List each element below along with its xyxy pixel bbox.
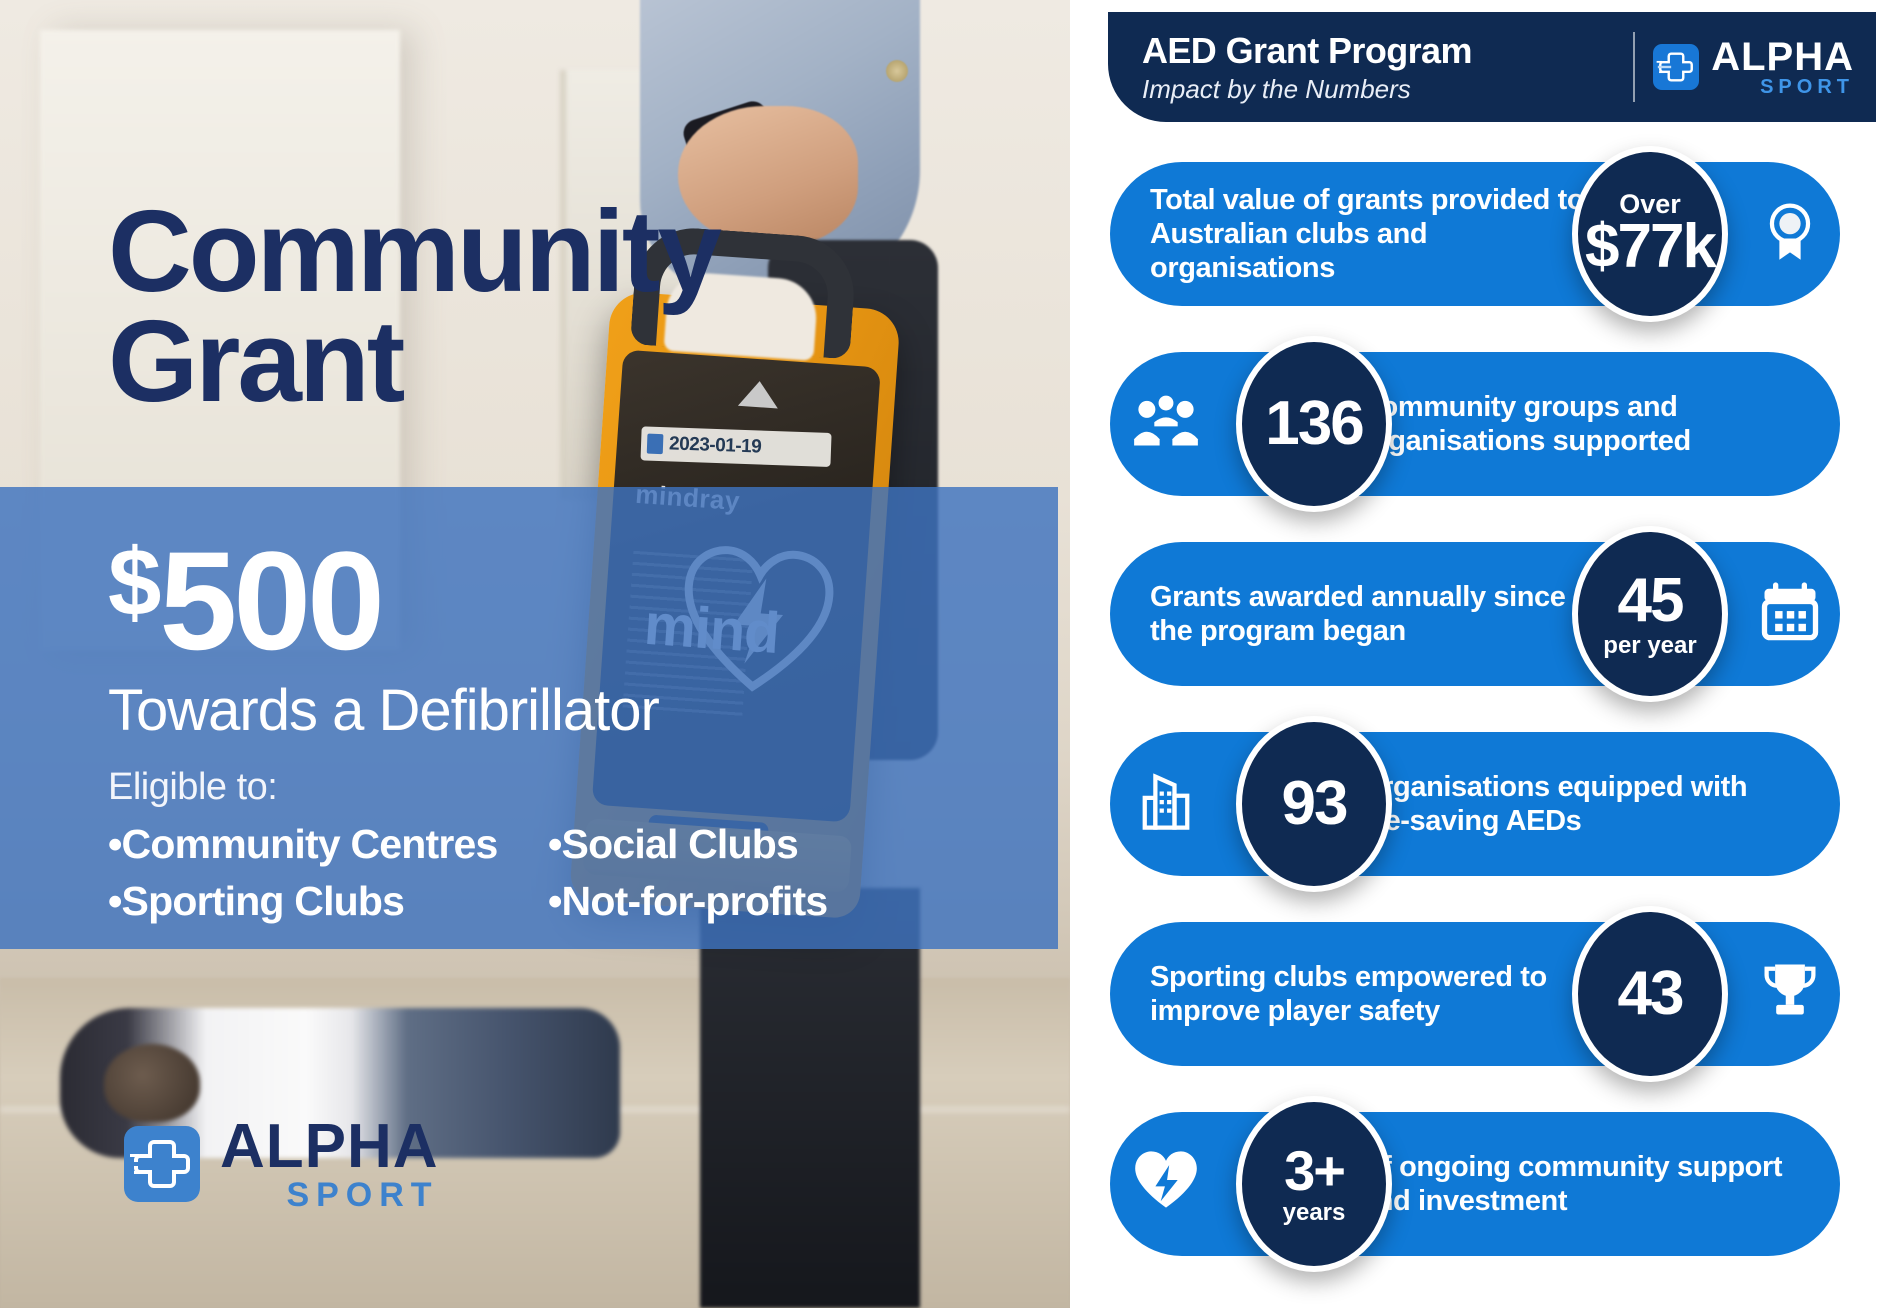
stat-value: 93: [1282, 773, 1347, 835]
stat-value-badge: Over $77k: [1572, 146, 1728, 322]
stat-suffix: years: [1283, 1201, 1346, 1225]
heart-bolt-icon: [1132, 1146, 1200, 1214]
logo-alpha-text: ALPHA: [220, 1116, 439, 1178]
alpha-cross-bolt-icon: [124, 1126, 200, 1202]
award-medal-icon: [1756, 196, 1824, 264]
trophy-icon: [1756, 956, 1824, 1024]
left-promo-panel: 2023-01-19 mindray mind Community Grant: [0, 0, 1070, 1308]
list-item: •Not-for-profits: [548, 878, 1058, 925]
stats-header-title: AED Grant Program: [1142, 30, 1615, 72]
eligible-label: Eligible to:: [108, 766, 1058, 809]
stat-description: Of ongoing community support and investm…: [1360, 1150, 1800, 1218]
offer-band: $500 Towards a Defibrillator Eligible to…: [0, 487, 1058, 949]
building-icon: [1132, 766, 1200, 834]
stat-row-grants-per-year: Grants awarded annually since the progra…: [1086, 526, 1866, 700]
stats-panel: AED Grant Program Impact by the Numbers: [1070, 0, 1880, 1308]
stat-pill: Sporting clubs empowered to improve play…: [1110, 922, 1840, 1066]
device-date-label: 2023-01-19: [641, 426, 832, 467]
stat-description: Community groups and organisations suppo…: [1360, 390, 1800, 458]
header-divider: [1633, 32, 1635, 102]
stat-value-badge: 136: [1236, 336, 1392, 512]
people-group-icon: [1132, 386, 1200, 454]
stat-value-badge: 93: [1236, 716, 1392, 892]
device-date-icon: [647, 434, 664, 455]
stat-pill: Total value of grants provided to Austra…: [1110, 162, 1840, 306]
alpha-sport-logo-header: ALPHA SPORT: [1653, 37, 1854, 97]
stat-description: Sporting clubs empowered to improve play…: [1150, 960, 1600, 1028]
stat-value: 45: [1618, 570, 1683, 632]
alpha-sport-logo-bottom: ALPHA SPORT: [124, 1116, 439, 1212]
alpha-cross-bolt-icon: [1653, 44, 1699, 90]
page-title: Community Grant: [108, 196, 719, 416]
logo-sport-text: SPORT: [1711, 77, 1854, 97]
amount-value: 500: [159, 522, 381, 679]
stat-description: Grants awarded annually since the progra…: [1150, 580, 1600, 648]
photo-person-head: [104, 1044, 200, 1122]
list-item: •Community Centres: [108, 821, 548, 868]
stat-row-organisations-equipped: Organisations equipped with life-saving …: [1086, 716, 1866, 890]
stat-value: 43: [1618, 963, 1683, 1025]
logo-wordmark: ALPHA SPORT: [1711, 37, 1854, 97]
photo-leg: [700, 888, 920, 1308]
calendar-icon: [1756, 576, 1824, 644]
stats-header-text: AED Grant Program Impact by the Numbers: [1142, 30, 1615, 105]
logo-wordmark: ALPHA SPORT: [220, 1116, 439, 1212]
headline-line-2: Grant: [108, 306, 719, 416]
stat-pill: Organisations equipped with life-saving …: [1110, 732, 1840, 876]
logo-alpha-text: ALPHA: [1711, 37, 1854, 77]
currency-symbol: $: [108, 529, 159, 636]
offer-subheading: Towards a Defibrillator: [108, 677, 1058, 744]
stat-suffix: per year: [1603, 634, 1696, 658]
stats-header-subtitle: Impact by the Numbers: [1142, 74, 1615, 105]
stat-value-badge: 3+ years: [1236, 1096, 1392, 1272]
logo-sport-text: SPORT: [220, 1178, 439, 1212]
photo-sleeve-button: [886, 60, 908, 82]
stat-description: Total value of grants provided to Austra…: [1150, 183, 1600, 286]
stat-value: 3+: [1284, 1143, 1344, 1199]
list-item: •Sporting Clubs: [108, 878, 548, 925]
up-arrow-icon: [738, 380, 780, 409]
list-item: •Social Clubs: [548, 821, 1058, 868]
stat-description: Organisations equipped with life-saving …: [1360, 770, 1800, 838]
stat-pill: Grants awarded annually since the progra…: [1110, 542, 1840, 686]
stat-pill: Community groups and organisations suppo…: [1110, 352, 1840, 496]
stats-list: Total value of grants provided to Austra…: [1086, 146, 1866, 1286]
stat-value: 136: [1265, 393, 1362, 455]
stat-value-badge: 43: [1572, 906, 1728, 1082]
eligibility-list: •Community Centres •Social Clubs •Sporti…: [108, 821, 1058, 925]
stat-row-years-support: Of ongoing community support and investm…: [1086, 1096, 1866, 1270]
grant-amount: $500: [108, 531, 1058, 671]
device-date-text: 2023-01-19: [669, 433, 762, 458]
stat-row-sporting-clubs: Sporting clubs empowered to improve play…: [1086, 906, 1866, 1080]
stat-value: $77k: [1585, 216, 1715, 278]
stat-row-total-grant-value: Total value of grants provided to Austra…: [1086, 146, 1866, 320]
infographic-page: 2023-01-19 mindray mind Community Grant: [0, 0, 1880, 1308]
stat-value-badge: 45 per year: [1572, 526, 1728, 702]
stat-pill: Of ongoing community support and investm…: [1110, 1112, 1840, 1256]
stats-header: AED Grant Program Impact by the Numbers: [1108, 12, 1876, 122]
stat-row-groups-supported: Community groups and organisations suppo…: [1086, 336, 1866, 510]
